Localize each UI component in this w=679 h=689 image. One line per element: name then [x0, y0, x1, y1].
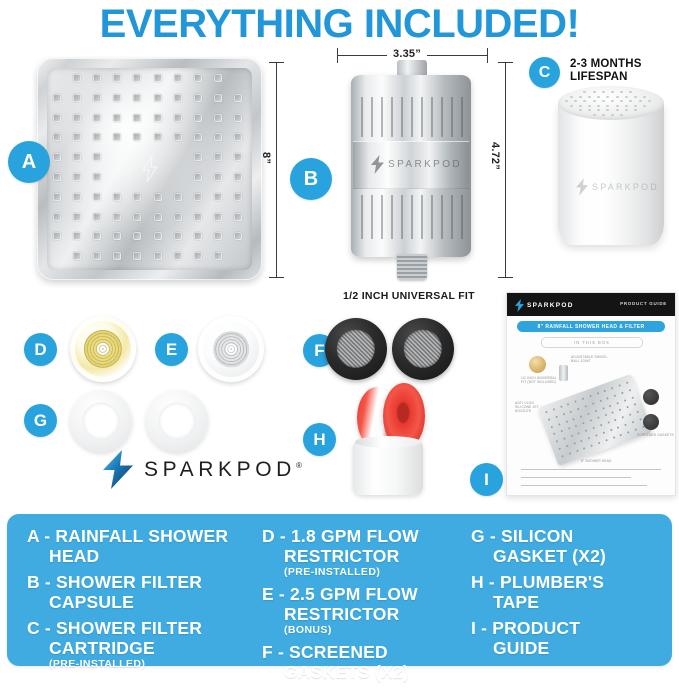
shower-head-nozzle [154, 133, 162, 141]
lifespan-annotation: 2-3 MONTHS LIFESPAN [570, 58, 642, 84]
restrictor-mesh-core [84, 330, 122, 368]
shower-head-nozzle [113, 114, 121, 122]
guide-nozzle-dot [617, 426, 620, 429]
guide-nozzle-dot [560, 430, 563, 433]
legend-item-h: H - PLUMBER'STAPE [471, 573, 671, 612]
lifespan-line-1: 2-3 MONTHS [570, 58, 642, 71]
shower-head-nozzle [154, 74, 162, 82]
legend-code: G - SILICON [471, 526, 573, 546]
guide-nozzle-dot [604, 414, 607, 417]
guide-divider [521, 477, 631, 478]
part-screened-gasket-1 [325, 318, 387, 380]
shower-head-nozzle [174, 213, 182, 221]
capsule-rib [371, 195, 373, 239]
shower-head-nozzle [154, 213, 162, 221]
guide-nozzle-dot [620, 434, 623, 437]
dimension-line-capsule-height [505, 62, 506, 278]
guide-nozzle-dot [553, 433, 556, 436]
part-product-guide: SPARKPOD PRODUCT GUIDE 8” RAINFALL SHOWE… [506, 292, 676, 496]
shower-head-nozzle [93, 232, 101, 240]
shower-head-nozzle [234, 213, 242, 221]
shower-head-nozzle [214, 153, 222, 161]
guide-nozzle-dot [590, 444, 593, 447]
shower-head-nozzle [194, 153, 202, 161]
shower-head-nozzle [113, 232, 121, 240]
guide-nozzle-dot [578, 432, 581, 435]
shower-head-nozzle [234, 173, 242, 181]
guide-nozzle-dot [594, 410, 597, 413]
guide-nozzle-dot [627, 431, 630, 434]
dimension-cap-top [269, 62, 284, 63]
cartridge-perforation [588, 109, 591, 111]
cartridge-perforation [588, 96, 591, 98]
shower-head-nozzle [73, 252, 81, 260]
cartridge-perforation [602, 91, 605, 93]
shower-head-nozzle [174, 133, 182, 141]
dimension-cap-right [487, 48, 488, 63]
cartridge-perforation [620, 114, 623, 116]
badge-c[interactable]: C [529, 57, 560, 88]
cartridge-perforation [611, 91, 614, 93]
guide-nozzle-dot [558, 423, 561, 426]
legend-code: F - SCREENED [262, 642, 388, 662]
guide-nozzle-dot [626, 382, 629, 385]
cartridge-perforation [625, 96, 628, 98]
guide-nozzle-dot [632, 421, 635, 424]
legend-code: D - 1.8 GPM FLOW [262, 526, 419, 546]
shower-head-nozzle [194, 114, 202, 122]
part-flow-restrictor-25gpm [198, 316, 264, 382]
cartridge-perforation [620, 91, 623, 93]
cartridge-perforation [606, 109, 609, 111]
shower-head-nozzle [154, 114, 162, 122]
shower-head-nozzle [113, 94, 121, 102]
cartridge-perforation [602, 114, 605, 116]
brand-name-text: SPARKPOD® [144, 458, 302, 482]
guide-nozzle-dot [609, 404, 612, 407]
guide-nozzle-dot [565, 420, 568, 423]
capsule-brand-text: SPARKPOD [388, 159, 462, 170]
cartridge-perforation [565, 100, 568, 102]
cartridge-brand-text: SPARKPOD [592, 182, 659, 192]
legend-item-d: D - 1.8 GPM FLOWRESTRICTOR(PRE-INSTALLED… [262, 527, 462, 578]
legend-column-3: G - SILICONGASKET (X2)H - PLUMBER'STAPEI… [471, 527, 671, 665]
legend-note: (BONUS) [262, 624, 462, 636]
shower-head-nozzle [194, 252, 202, 260]
guide-nozzle-dot [555, 416, 558, 419]
shower-head-nozzle [234, 153, 242, 161]
badge-d[interactable]: D [24, 333, 57, 366]
shower-head-nozzle [174, 74, 182, 82]
guide-nozzle-dot [585, 430, 588, 433]
legend-line-2: CARTRIDGE [27, 639, 257, 659]
shower-head-nozzle [133, 133, 141, 141]
shower-head-nozzle [194, 213, 202, 221]
guide-nozzle-dot [562, 413, 565, 416]
guide-nozzle-dot [602, 407, 605, 410]
guide-nozzle-dot [574, 400, 577, 403]
capsule-rib [461, 195, 463, 239]
shower-head-nozzle [113, 133, 121, 141]
universal-fit-label: 1/2 INCH UNIVERSAL FIT [343, 290, 475, 302]
shower-head-nozzle [214, 133, 222, 141]
shower-head-nozzle [73, 133, 81, 141]
shower-head-nozzle [154, 252, 162, 260]
shower-head-nozzle [93, 252, 101, 260]
cartridge-perforation [597, 105, 600, 107]
shower-head-nozzle [53, 232, 61, 240]
cartridge-perforation [634, 109, 637, 111]
guide-nozzle-dot [616, 402, 619, 405]
shower-head-nozzle [73, 153, 81, 161]
legend-item-b: B - SHOWER FILTERCAPSULE [27, 573, 257, 612]
guide-nozzle-dot [563, 438, 566, 441]
guide-nozzle-dot [619, 409, 622, 412]
page-title: EVERYTHING INCLUDED! [0, 2, 679, 46]
sparkpod-bolt-icon [103, 450, 133, 489]
product-rainfall-shower-head [37, 58, 262, 280]
shower-head-nozzle [133, 94, 141, 102]
legend-item-a: A - RAINFALL SHOWERHEAD [27, 527, 257, 566]
dimension-label-width: 3.35” [387, 48, 427, 60]
shower-head-nozzle [174, 193, 182, 201]
guide-nozzle-dot [575, 425, 578, 428]
cartridge-perforation [597, 96, 600, 98]
guide-nozzle-dot [580, 415, 583, 418]
cartridge-perforation [616, 109, 619, 111]
guide-nozzle-dot [595, 434, 598, 437]
shower-head-nozzle [133, 114, 141, 122]
cartridge-perforation [602, 100, 605, 102]
shower-head-nozzle [194, 193, 202, 201]
guide-nozzle-dot [600, 424, 603, 427]
legend-code: C - SHOWER FILTER [27, 618, 202, 638]
guide-nozzle-dot [572, 418, 575, 421]
legend-note: (PRE-INSTALLED) [262, 566, 462, 578]
badge-i[interactable]: I [470, 463, 503, 496]
guide-nozzle-dot [577, 408, 580, 411]
guide-nozzle-dot [634, 404, 637, 407]
guide-nozzle-dot [610, 429, 613, 432]
legend-item-i: I - PRODUCTGUIDE [471, 619, 671, 658]
cartridge-brand-logo: SPARKPOD [576, 178, 659, 196]
shower-head-nozzle [93, 74, 101, 82]
shower-head-nozzle [174, 114, 182, 122]
guide-nozzle-dot [612, 436, 615, 439]
shower-head-nozzle [234, 193, 242, 201]
shower-head-nozzle [73, 173, 81, 181]
cartridge-perforation [611, 100, 614, 102]
cartridge-perforation [570, 105, 573, 107]
guide-nozzle-dot [611, 387, 614, 390]
cartridge-perforation [616, 105, 619, 107]
shower-head-nozzle [214, 213, 222, 221]
capsule-rib [361, 195, 363, 239]
capsule-rib [421, 195, 423, 239]
shower-head-nozzle [93, 94, 101, 102]
capsule-rib [441, 195, 443, 239]
guide-nozzle-dot [584, 405, 587, 408]
guide-callout-5: 8” SHOWER HEAD [581, 459, 612, 463]
shower-head-nozzle [214, 74, 222, 82]
guide-nozzle-dot [618, 384, 621, 387]
cartridge-perforation [606, 105, 609, 107]
capsule-rib [411, 195, 413, 239]
guide-nozzle-dot [614, 394, 617, 397]
cartridge-perforation [574, 100, 577, 102]
guide-divider [521, 485, 647, 486]
guide-nozzle-dot [592, 402, 595, 405]
guide-nozzle-dot [626, 406, 629, 409]
cartridge-perforation [634, 105, 637, 107]
cartridge-perforation [597, 109, 600, 111]
cartridge-perforation [588, 105, 591, 107]
dimension-label-height: 8” [260, 152, 272, 164]
shower-head-nozzle [194, 74, 202, 82]
shower-head-nozzle [73, 74, 81, 82]
product-shower-filter-cartridge: SPARKPOD [558, 86, 664, 256]
cartridge-perforation [643, 105, 646, 107]
capsule-rib [371, 97, 373, 137]
guide-nozzle-dot [624, 399, 627, 402]
badge-g[interactable]: G [24, 404, 57, 437]
guide-nozzle-dot [550, 426, 553, 429]
guide-nozzle-dot [607, 422, 610, 425]
sparkpod-bolt-icon [141, 156, 159, 182]
shower-head-nozzle [234, 94, 242, 102]
guide-nozzle-dot [556, 440, 559, 443]
capsule-rib [381, 195, 383, 239]
shower-head-nozzle [194, 173, 202, 181]
guide-brand-text: SPARKPOD [527, 302, 574, 309]
capsule-rib [391, 97, 393, 137]
guide-nozzle-dot [580, 440, 583, 443]
shower-head-face [47, 68, 252, 270]
cartridge-perforation [593, 114, 596, 116]
cartridge-perforation [606, 96, 609, 98]
capsule-brand-logo: SPARKPOD [371, 155, 462, 174]
legend-panel: A - RAINFALL SHOWERHEADB - SHOWER FILTER… [7, 514, 672, 666]
guide-gasket-1 [643, 389, 659, 405]
guide-nozzle-dot [624, 424, 627, 427]
guide-nozzle-dot [582, 398, 585, 401]
part-screened-gasket-2 [392, 318, 454, 380]
guide-nozzle-dot [639, 418, 642, 421]
dimension-cap-bottom [269, 277, 284, 278]
guide-capsule-illustration [559, 365, 568, 381]
part-silicon-gasket-1 [70, 390, 132, 452]
guide-nozzle-dot [583, 447, 586, 450]
shower-head-nozzle [194, 94, 202, 102]
shower-head-nozzle [133, 252, 141, 260]
guide-nozzle-dot [561, 455, 564, 458]
shower-head-nozzle [214, 232, 222, 240]
shower-head-nozzle [73, 114, 81, 122]
cartridge-perforation [579, 109, 582, 111]
cartridge-perforation [634, 96, 637, 98]
shower-head-nozzle [154, 232, 162, 240]
brand-registered-mark: ® [296, 461, 302, 470]
guide-callout-2: ADJUSTABLE SWIVEL BALL JOINT [571, 355, 611, 363]
cartridge-perforation [579, 96, 582, 98]
guide-nozzle-dot [602, 432, 605, 435]
shower-head-nozzle [53, 173, 61, 181]
shower-head-nozzle [53, 193, 61, 201]
shower-head-nozzle [174, 252, 182, 260]
guide-nozzle-dot [558, 448, 561, 451]
shower-head-nozzle [174, 94, 182, 102]
capsule-rib [431, 97, 433, 137]
cartridge-perforation [583, 100, 586, 102]
guide-nozzle-dot [576, 450, 579, 453]
cartridge-perforation [611, 114, 614, 116]
shower-head-nozzle [53, 114, 61, 122]
legend-code: B - SHOWER FILTER [27, 572, 202, 592]
guide-nozzle-dot [548, 418, 551, 421]
product-shower-filter-capsule: SPARKPOD [345, 60, 477, 282]
cartridge-perforation [570, 96, 573, 98]
shower-head-nozzle [234, 232, 242, 240]
guide-nozzle-dot [568, 452, 571, 455]
badge-e[interactable]: E [155, 333, 188, 366]
guide-coin-illustration [529, 356, 546, 373]
guide-nozzle-dot [588, 437, 591, 440]
guide-divider [521, 469, 661, 470]
dimension-line-height [276, 62, 277, 278]
guide-nozzle-dot [596, 392, 599, 395]
shower-head-nozzle [93, 114, 101, 122]
shower-head-nozzle [174, 232, 182, 240]
guide-brand-logo: SPARKPOD [515, 299, 574, 312]
guide-nozzle-dot [587, 412, 590, 415]
guide-in-this-box: IN THIS BOX [541, 337, 643, 348]
guide-shower-head-illustration [537, 374, 652, 466]
capsule-rib [451, 195, 453, 239]
legend-line-2: GUIDE [471, 639, 671, 659]
cartridge-perforation [620, 100, 623, 102]
guide-nozzle-dot [599, 400, 602, 403]
cartridge-perforation [629, 91, 632, 93]
guide-nozzle-dot [573, 442, 576, 445]
badge-a[interactable]: A [8, 141, 50, 183]
legend-column-1: A - RAINFALL SHOWERHEADB - SHOWER FILTER… [27, 527, 257, 677]
legend-line-2: HEAD [27, 547, 257, 567]
legend-column-2: D - 1.8 GPM FLOWRESTRICTOR(PRE-INSTALLED… [262, 527, 462, 689]
shower-head-nozzle [113, 74, 121, 82]
shower-head-nozzle [93, 213, 101, 221]
guide-nozzle-dot [634, 428, 637, 431]
guide-nozzle-dot [592, 427, 595, 430]
guide-nozzle-dot [552, 408, 555, 411]
guide-nozzle-dot [568, 428, 571, 431]
capsule-rib [411, 97, 413, 137]
guide-nozzle-dot [582, 422, 585, 425]
legend-line-2: RESTRICTOR [262, 605, 462, 625]
capsule-rib [441, 97, 443, 137]
tape-holder-cup [353, 441, 423, 495]
shower-head-nozzle [113, 193, 121, 201]
guide-kicker: PRODUCT GUIDE [620, 301, 667, 306]
guide-nozzle-dot [628, 389, 631, 392]
shower-head-nozzle [73, 213, 81, 221]
shower-head-nozzle [154, 193, 162, 201]
guide-nozzle-dot [567, 403, 570, 406]
capsule-rib [361, 97, 363, 137]
sparkpod-bolt-icon [371, 155, 384, 174]
legend-code: I - PRODUCT [471, 618, 580, 638]
guide-nozzle-dot [590, 420, 593, 423]
guide-nozzle-dot [614, 419, 617, 422]
sparkpod-bolt-icon [515, 299, 524, 312]
legend-item-g: G - SILICONGASKET (X2) [471, 527, 671, 566]
cartridge-perforated-top [558, 86, 664, 120]
guide-nozzle-dot [560, 406, 563, 409]
capsule-rib [381, 97, 383, 137]
shower-head-nozzle [53, 94, 61, 102]
guide-nozzle-dot [605, 439, 608, 442]
shower-head-nozzle [73, 94, 81, 102]
shower-head-nozzle [214, 193, 222, 201]
shower-head-nozzle [214, 173, 222, 181]
legend-line-2: GASKET (X2) [471, 547, 671, 567]
cartridge-perforation [629, 100, 632, 102]
guide-callout-4: SCREENED GASKETS [637, 433, 674, 437]
legend-code: E - 2.5 GPM FLOW [262, 584, 418, 604]
shower-head-nozzle [214, 252, 222, 260]
legend-note: (PRE-INSTALLED) [27, 658, 257, 670]
shower-head-nozzle [133, 213, 141, 221]
capsule-body: SPARKPOD [351, 75, 471, 257]
guide-nozzle-dot [612, 412, 615, 415]
cartridge-perforation [579, 105, 582, 107]
capsule-rib [401, 195, 403, 239]
guide-nozzle-dot [621, 392, 624, 395]
guide-nozzle-dot [589, 395, 592, 398]
shower-head-nozzle [53, 213, 61, 221]
shower-head-nozzle [113, 252, 121, 260]
shower-head-nozzle [73, 232, 81, 240]
guide-nozzle-dot [597, 417, 600, 420]
shower-head-nozzle [133, 193, 141, 201]
shower-head-nozzle [154, 94, 162, 102]
guide-gasket-2 [643, 414, 659, 430]
capsule-rib [401, 97, 403, 137]
guide-nozzle-dot [570, 435, 573, 438]
part-plumbers-tape [345, 383, 431, 495]
shower-head-nozzle [194, 133, 202, 141]
shower-head-nozzle [214, 94, 222, 102]
restrictor-mesh-core [213, 331, 249, 367]
legend-code: H - PLUMBER'S [471, 572, 604, 592]
legend-line-2: GASKETS (X2) [262, 663, 462, 683]
guide-nozzle-dot [566, 445, 569, 448]
part-flow-restrictor-18gpm [70, 316, 136, 382]
guide-banner: 8” RAINFALL SHOWER HEAD & FILTER [517, 321, 665, 332]
badge-h[interactable]: H [303, 423, 336, 456]
shower-head-nozzle [53, 133, 61, 141]
part-silicon-gasket-2 [146, 390, 208, 452]
cartridge-perforation [583, 91, 586, 93]
guide-nozzle-dot [631, 396, 634, 399]
legend-item-f: F - SCREENEDGASKETS (X2) [262, 643, 462, 682]
shower-head-nozzle [113, 213, 121, 221]
cartridge-perforation [593, 100, 596, 102]
badge-b[interactable]: B [290, 158, 332, 200]
shower-head-nozzle [93, 153, 101, 161]
cartridge-perforation [648, 100, 651, 102]
shower-head-nozzle [214, 114, 222, 122]
guide-callout-1: 1/2 INCH UNIVERSAL FIT (NOT INCLUDED) [521, 376, 557, 384]
